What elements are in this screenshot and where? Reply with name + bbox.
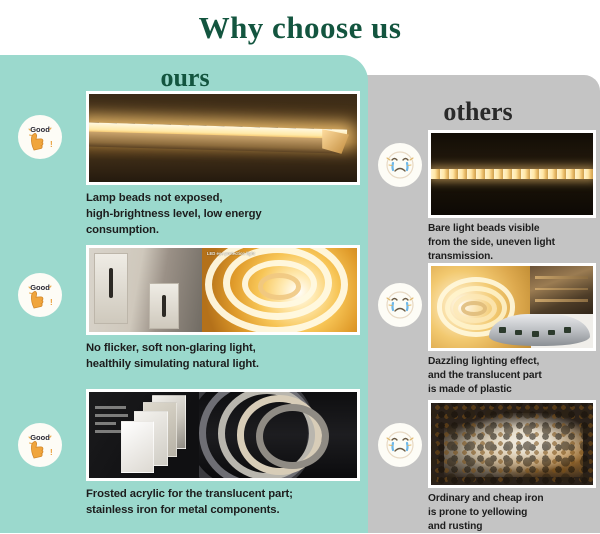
comparison-board: others bbox=[0, 55, 600, 533]
ours-photo-led-bar bbox=[86, 91, 360, 185]
page-title: Why choose us bbox=[0, 0, 600, 55]
svg-text:!: ! bbox=[50, 448, 53, 457]
comparison-card-ours-3: Frosted acrylic for the translucent part… bbox=[86, 389, 360, 518]
rust-speckles-art bbox=[431, 403, 593, 485]
others-caption-2: Dazzling lighting effect, and the transl… bbox=[428, 355, 596, 397]
svg-text:Good: Good bbox=[30, 125, 50, 134]
wall-scene-art bbox=[89, 248, 204, 332]
comparison-card-others-3: Ordinary and cheap iron is prone to yell… bbox=[428, 400, 596, 534]
comparison-card-others-1: Bare light beads visible from the side, … bbox=[428, 130, 596, 264]
comparison-card-ours-2: LED eye protection light No flicker, sof… bbox=[86, 245, 360, 372]
svg-text:Good: Good bbox=[30, 433, 50, 442]
ours-caption-1: Lamp beads not exposed, high-brightness … bbox=[86, 190, 360, 238]
comparison-card-ours-1: Lamp beads not exposed, high-brightness … bbox=[86, 91, 360, 238]
ours-photo-materials bbox=[86, 389, 360, 481]
coiled-strip-art bbox=[202, 248, 357, 332]
metal-sheets-art bbox=[199, 392, 357, 478]
comparison-card-others-2: Dazzling lighting effect, and the transl… bbox=[428, 263, 596, 397]
room-interior-art bbox=[530, 266, 593, 314]
others-photo-rust bbox=[428, 400, 596, 488]
photo-overlay-text: LED eye protection light bbox=[207, 251, 346, 258]
thumbs-up-good-badge-icon: Good ! bbox=[18, 273, 62, 317]
thumbs-up-good-badge-icon: Good ! bbox=[18, 115, 62, 159]
panel-ours: ours Good ! Good ! Good ! bbox=[0, 55, 368, 533]
svg-text:Good: Good bbox=[30, 283, 50, 292]
led-dot-strip bbox=[431, 169, 593, 179]
acrylic-panels-art bbox=[89, 392, 202, 478]
panel-ours-heading: ours bbox=[95, 63, 275, 93]
ours-photo-wall-lamps: LED eye protection light bbox=[86, 245, 360, 335]
panel-others-heading: others bbox=[378, 97, 578, 127]
svg-text:!: ! bbox=[50, 140, 53, 149]
ours-caption-2: No flicker, soft non-glaring light, heal… bbox=[86, 340, 360, 372]
others-caption-3: Ordinary and cheap iron is prone to yell… bbox=[428, 492, 596, 534]
crying-face-badge-icon bbox=[378, 283, 422, 327]
crying-face-badge-icon bbox=[378, 143, 422, 187]
others-photo-coiled-strip bbox=[428, 263, 596, 351]
bare-led-strip-art bbox=[489, 314, 589, 347]
thumbs-up-good-badge-icon: Good ! bbox=[18, 423, 62, 467]
crying-face-badge-icon bbox=[378, 423, 422, 467]
ours-caption-3: Frosted acrylic for the translucent part… bbox=[86, 486, 360, 518]
others-caption-1: Bare light beads visible from the side, … bbox=[428, 222, 596, 264]
others-photo-led-dots bbox=[428, 130, 596, 218]
svg-text:!: ! bbox=[50, 298, 53, 307]
